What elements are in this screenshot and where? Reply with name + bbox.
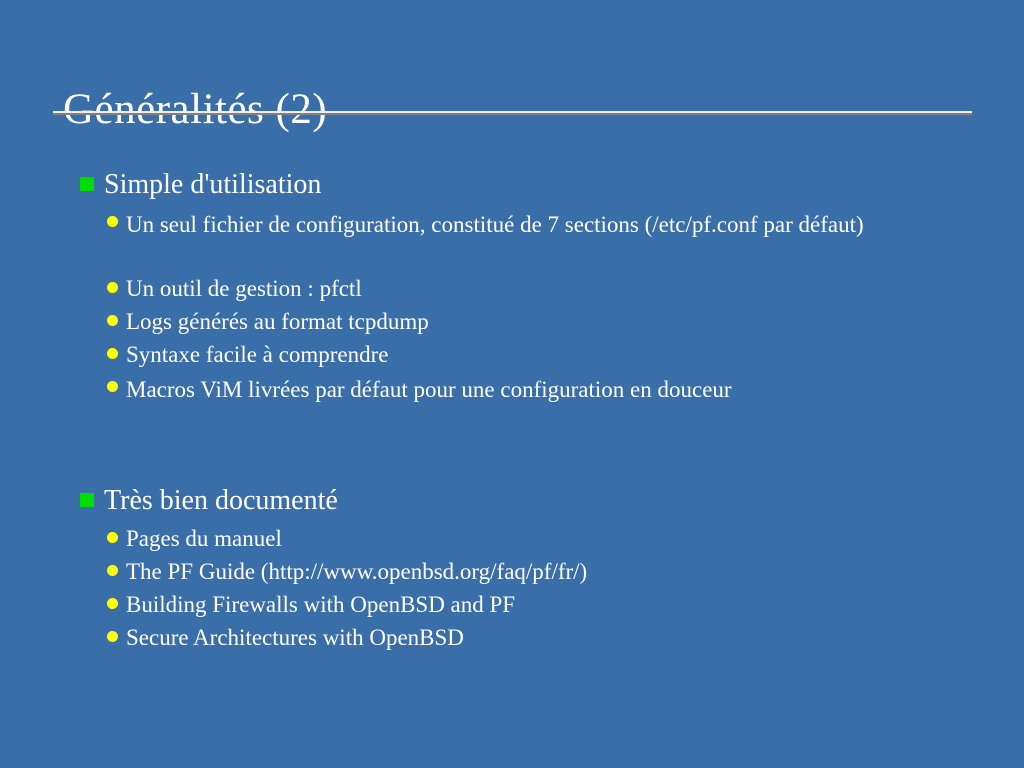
outline-level2-item: Building Firewalls with OpenBSD and PF [107, 588, 987, 621]
presentation-slide: Généralités (2) Simple d'utilisation Un … [0, 0, 1024, 768]
square-bullet-icon [80, 493, 94, 507]
outline-level2-item: Syntaxe facile à comprendre [107, 338, 987, 371]
dot-bullet-icon [107, 598, 118, 609]
outline-level2-label: Un outil de gestion : pfctl [126, 272, 362, 305]
outline-level2-item: Secure Architectures with OpenBSD [107, 621, 987, 654]
outline-level2-item: Un seul fichier de configuration, consti… [107, 206, 987, 244]
dot-bullet-icon [107, 282, 118, 293]
outline-level2-label: Building Firewalls with OpenBSD and PF [126, 588, 515, 621]
outline-level1-item: Très bien documenté [80, 483, 980, 518]
dot-bullet-icon [107, 315, 118, 326]
outline-level2-label: Logs générés au format tcpdump [126, 305, 429, 338]
dot-bullet-icon [107, 532, 118, 543]
outline-level1-item: Simple d'utilisation [80, 167, 980, 202]
outline-level2-label: Macros ViM livrées par défaut pour une c… [126, 371, 871, 409]
outline-level2-label: Secure Architectures with OpenBSD [126, 621, 464, 654]
outline-level2-item: Macros ViM livrées par défaut pour une c… [107, 371, 987, 409]
outline-level2-label: The PF Guide (http://www.openbsd.org/faq… [126, 555, 587, 588]
dot-bullet-icon [107, 381, 118, 392]
page-title: Généralités (2) [63, 85, 327, 135]
outline-level2-label: Un seul fichier de configuration, consti… [126, 206, 871, 244]
outline-level2-label: Syntaxe facile à comprendre [126, 338, 388, 371]
dot-bullet-icon [107, 631, 118, 642]
outline-level2-item: The PF Guide (http://www.openbsd.org/faq… [107, 555, 987, 588]
outline-level2-item: Pages du manuel [107, 522, 987, 555]
outline-level2-item: Logs générés au format tcpdump [107, 305, 987, 338]
outline-level2-label: Pages du manuel [126, 522, 282, 555]
outline-level1-label: Simple d'utilisation [104, 167, 321, 202]
outline-level1-label: Très bien documenté [104, 483, 338, 518]
title-divider-line [53, 113, 972, 115]
dot-bullet-icon [107, 565, 118, 576]
title-divider [53, 111, 972, 115]
square-bullet-icon [80, 177, 94, 191]
outline-level2-item: Un outil de gestion : pfctl [107, 272, 987, 305]
dot-bullet-icon [107, 216, 118, 227]
dot-bullet-icon [107, 348, 118, 359]
